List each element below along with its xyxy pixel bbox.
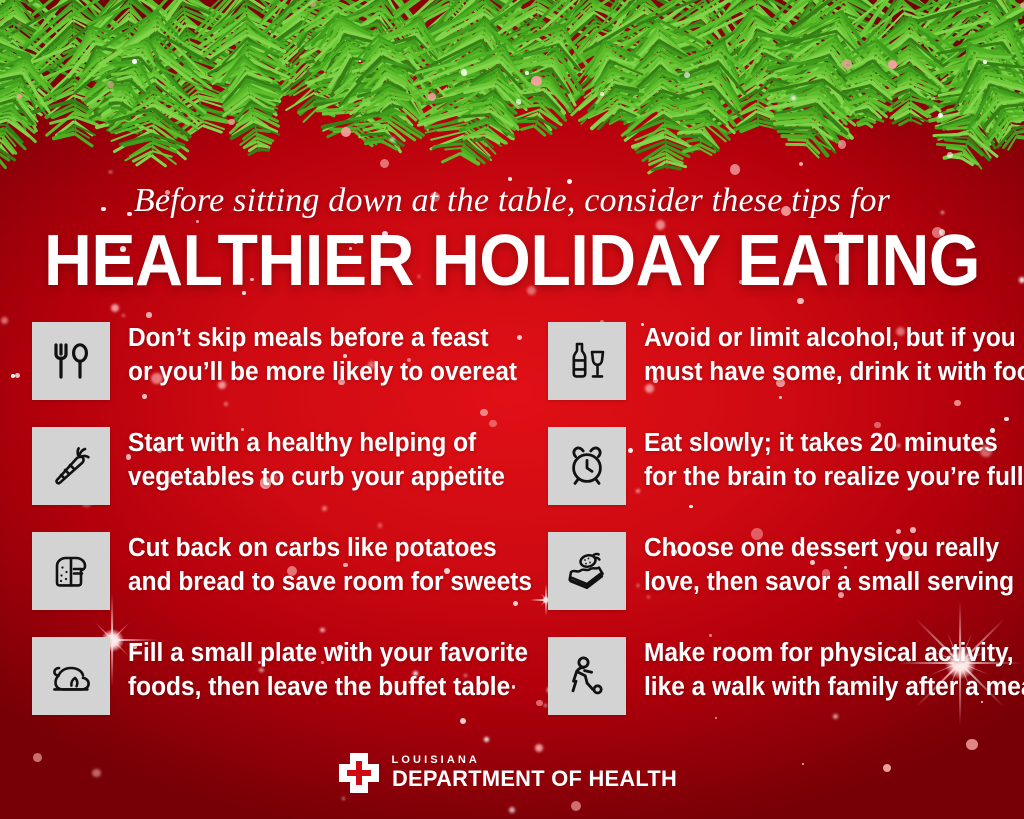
logo-agency-name: DEPARTMENT OF HEALTH [392,768,677,791]
tip-line-2: or you’ll be more likely to overeat [128,355,504,389]
tip-line-2: foods, then leave the buffet table [128,670,504,704]
snow-dot [508,177,512,181]
tip-line-2: love, then savor a small serving [644,565,1020,599]
roast-turkey-icon [32,637,110,715]
tip-line-2: vegetables to curb your appetite [128,460,504,494]
tip-line-2: and bread to save room for sweets [128,565,504,599]
pine-branch [697,41,725,151]
tip-text: Don’t skip meals before a feast or you’l… [128,321,504,389]
pine-branch [968,42,1020,139]
tip-text: Eat slowly; it takes 20 minutes for the … [644,426,1020,494]
cake-slice-icon [548,532,626,610]
tip-text: Fill a small plate with your favorite fo… [128,636,504,704]
bread-loaf-icon [32,532,110,610]
tip-text: Start with a healthy helping of vegetabl… [128,426,504,494]
walking-person-icon [548,637,626,715]
tips-grid: Don’t skip meals before a feast or you’l… [0,322,1024,734]
louisiana-department-of-health-logo: LOUISIANA DEPARTMENT OF HEALTH [0,753,1024,793]
pine-branch [0,55,30,160]
tip-line-2: must have some, drink it with food [644,355,1020,389]
tips-column-left: Don’t skip meals before a feast or you’l… [32,322,524,742]
tip-line-1: Make room for physical activity, [644,636,1020,670]
alarm-clock-icon [548,427,626,505]
tip-line-1: Eat slowly; it takes 20 minutes [644,426,1020,460]
tip-line-1: Fill a small plate with your favorite [128,636,504,670]
tip-item: Eat slowly; it takes 20 minutes for the … [548,427,1024,505]
tip-line-2: like a walk with family after a meal [644,670,1020,704]
tip-text: Cut back on carbs like potatoes and brea… [128,531,504,599]
pine-branch [658,18,668,169]
subheadline: Before sitting down at the table, consid… [0,182,1024,220]
pine-branch [910,16,912,122]
tip-line-1: Avoid or limit alcohol, but if you [644,321,1020,355]
snow-dot [509,807,515,813]
tip-line-1: Cut back on carbs like potatoes [128,531,504,565]
holiday-eating-infographic: Before sitting down at the table, consid… [0,0,1024,819]
pine-branch [151,10,159,158]
tip-line-1: Start with a healthy helping of [128,426,504,460]
tip-text: Choose one dessert you really love, then… [644,531,1020,599]
tip-item: Cut back on carbs like potatoes and brea… [32,532,524,610]
pine-branch [378,34,396,116]
page-title: HEALTHIER HOLIDAY EATING [41,224,983,298]
carrot-icon [32,427,110,505]
logo-state-name: LOUISIANA [392,755,686,766]
logo-wordmark: LOUISIANA DEPARTMENT OF HEALTH [392,755,686,791]
tip-item: Don’t skip meals before a feast or you’l… [32,322,524,400]
tip-item: Fill a small plate with your favorite fo… [32,637,524,715]
tip-text: Avoid or limit alcohol, but if you must … [644,321,1020,389]
tips-column-right: Avoid or limit alcohol, but if you must … [548,322,1024,742]
snow-dot [146,312,151,317]
snow-dot [571,801,581,811]
snow-dot [111,304,119,312]
fork-and-spoon-icon [32,322,110,400]
snow-dot [342,797,345,800]
snow-dot [1019,277,1024,283]
tip-item: Start with a healthy helping of vegetabl… [32,427,524,505]
tip-text: Make room for physical activity, like a … [644,636,1020,704]
tip-item: Make room for physical activity, like a … [548,637,1024,715]
snow-dot [535,744,543,752]
bottle-and-wine-glass-icon [548,322,626,400]
pine-branch [243,54,260,153]
tip-item: Avoid or limit alcohol, but if you must … [548,322,1024,400]
tip-line-2: for the brain to realize you’re full [644,460,1020,494]
tip-line-1: Choose one dessert you really [644,531,1020,565]
snow-dot [122,314,125,317]
tip-line-1: Don’t skip meals before a feast [128,321,504,355]
medical-cross-icon [339,753,379,793]
pine-garland [0,0,1024,175]
tip-item: Choose one dessert you really love, then… [548,532,1024,610]
